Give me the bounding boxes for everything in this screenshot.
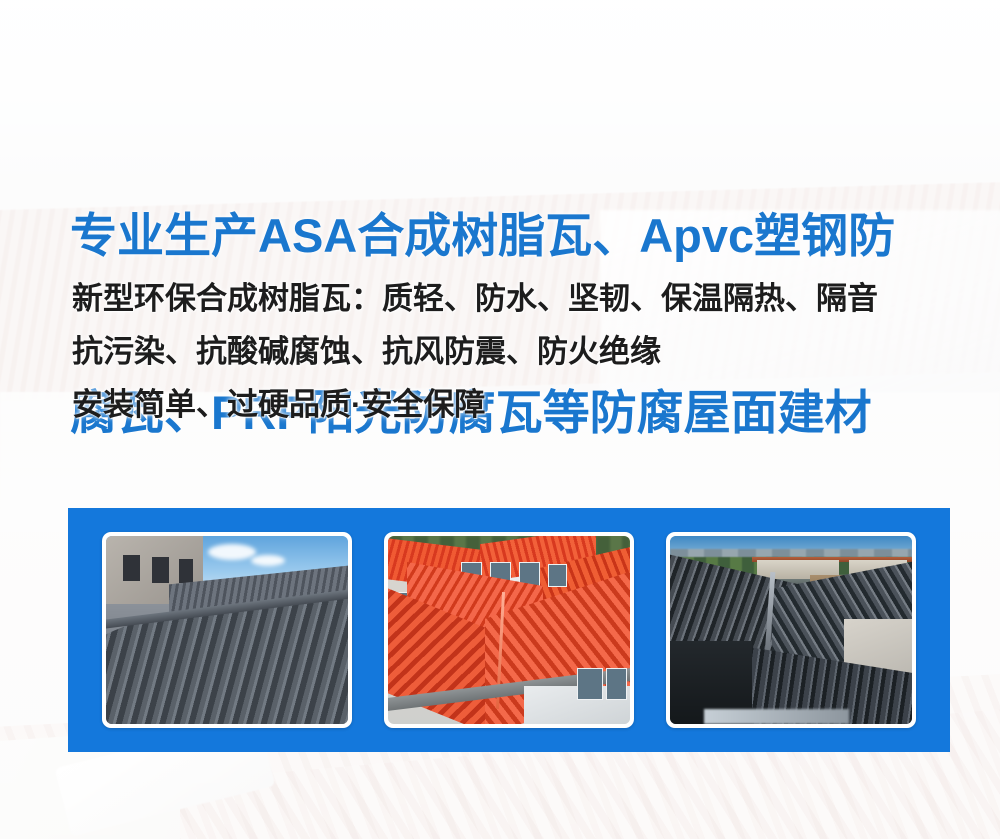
subtitle-line-2: 抗污染、抗酸碱腐蚀、抗风防震、防火绝缘 <box>72 325 962 378</box>
grey-resin-tile-roof-photo <box>106 536 348 724</box>
photo2-window <box>548 564 567 587</box>
photo1-cloud <box>251 555 285 566</box>
photo1-window <box>123 555 140 581</box>
photo2-window <box>577 668 603 700</box>
product-promo-banner: 专业生产ASA合成树脂瓦、Apvc塑钢防 腐瓦、PRP阳光防腐瓦等防腐屋面建材 … <box>0 0 1000 839</box>
subtitle-line-3: 安装简单、过硬品质·安全保障 <box>72 378 962 431</box>
headline-line-1: 专业生产ASA合成树脂瓦、Apvc塑钢防 <box>70 206 950 265</box>
subtitle: 新型环保合成树脂瓦：质轻、防水、坚韧、保温隔热、隔音 抗污染、抗酸碱腐蚀、抗风防… <box>72 272 962 431</box>
photo-frame-2 <box>384 532 634 728</box>
photo2-window <box>606 668 627 700</box>
photo-frame-3 <box>666 532 916 728</box>
photo1-window <box>179 559 194 583</box>
red-resin-tile-roof-photo <box>388 536 630 724</box>
photo1-cloud <box>208 544 256 560</box>
photo-gallery-panel <box>68 508 950 752</box>
photo3-foreground-strip <box>704 709 849 724</box>
photo-frame-1 <box>102 532 352 728</box>
subtitle-line-1: 新型环保合成树脂瓦：质轻、防水、坚韧、保温隔热、隔音 <box>72 272 962 325</box>
photo1-window <box>152 557 169 583</box>
dark-grey-synthetic-tile-roof-photo <box>670 536 912 724</box>
